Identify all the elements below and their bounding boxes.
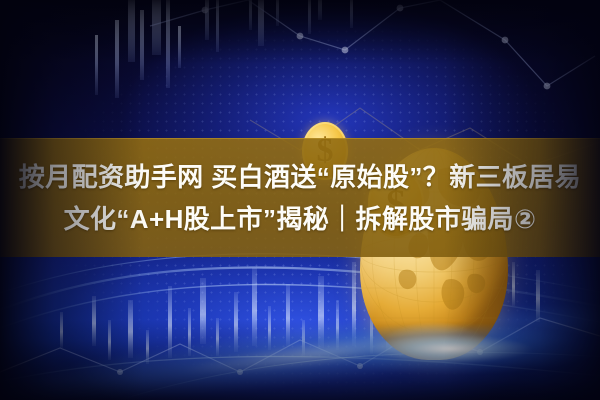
headline-line-2: 文化“A+H股上市”揭秘｜拆解股市骗局②: [64, 204, 537, 234]
title-band: 按月配资助手网 买白酒送“原始股”？新三板居易 文化“A+H股上市”揭秘｜拆解股…: [0, 138, 600, 257]
article-banner: $ $ 按月配资助手网 买白酒送“原始股”？新三板居易 文化“A+H股上市”揭秘…: [0, 0, 600, 400]
globe-base-flare: [300, 312, 600, 386]
headline-line-1: 按月配资助手网 买白酒送“原始股”？新三板居易: [19, 162, 581, 192]
candlesticks-upper: [95, 0, 353, 98]
trend-nodes-upper: [202, 5, 551, 90]
